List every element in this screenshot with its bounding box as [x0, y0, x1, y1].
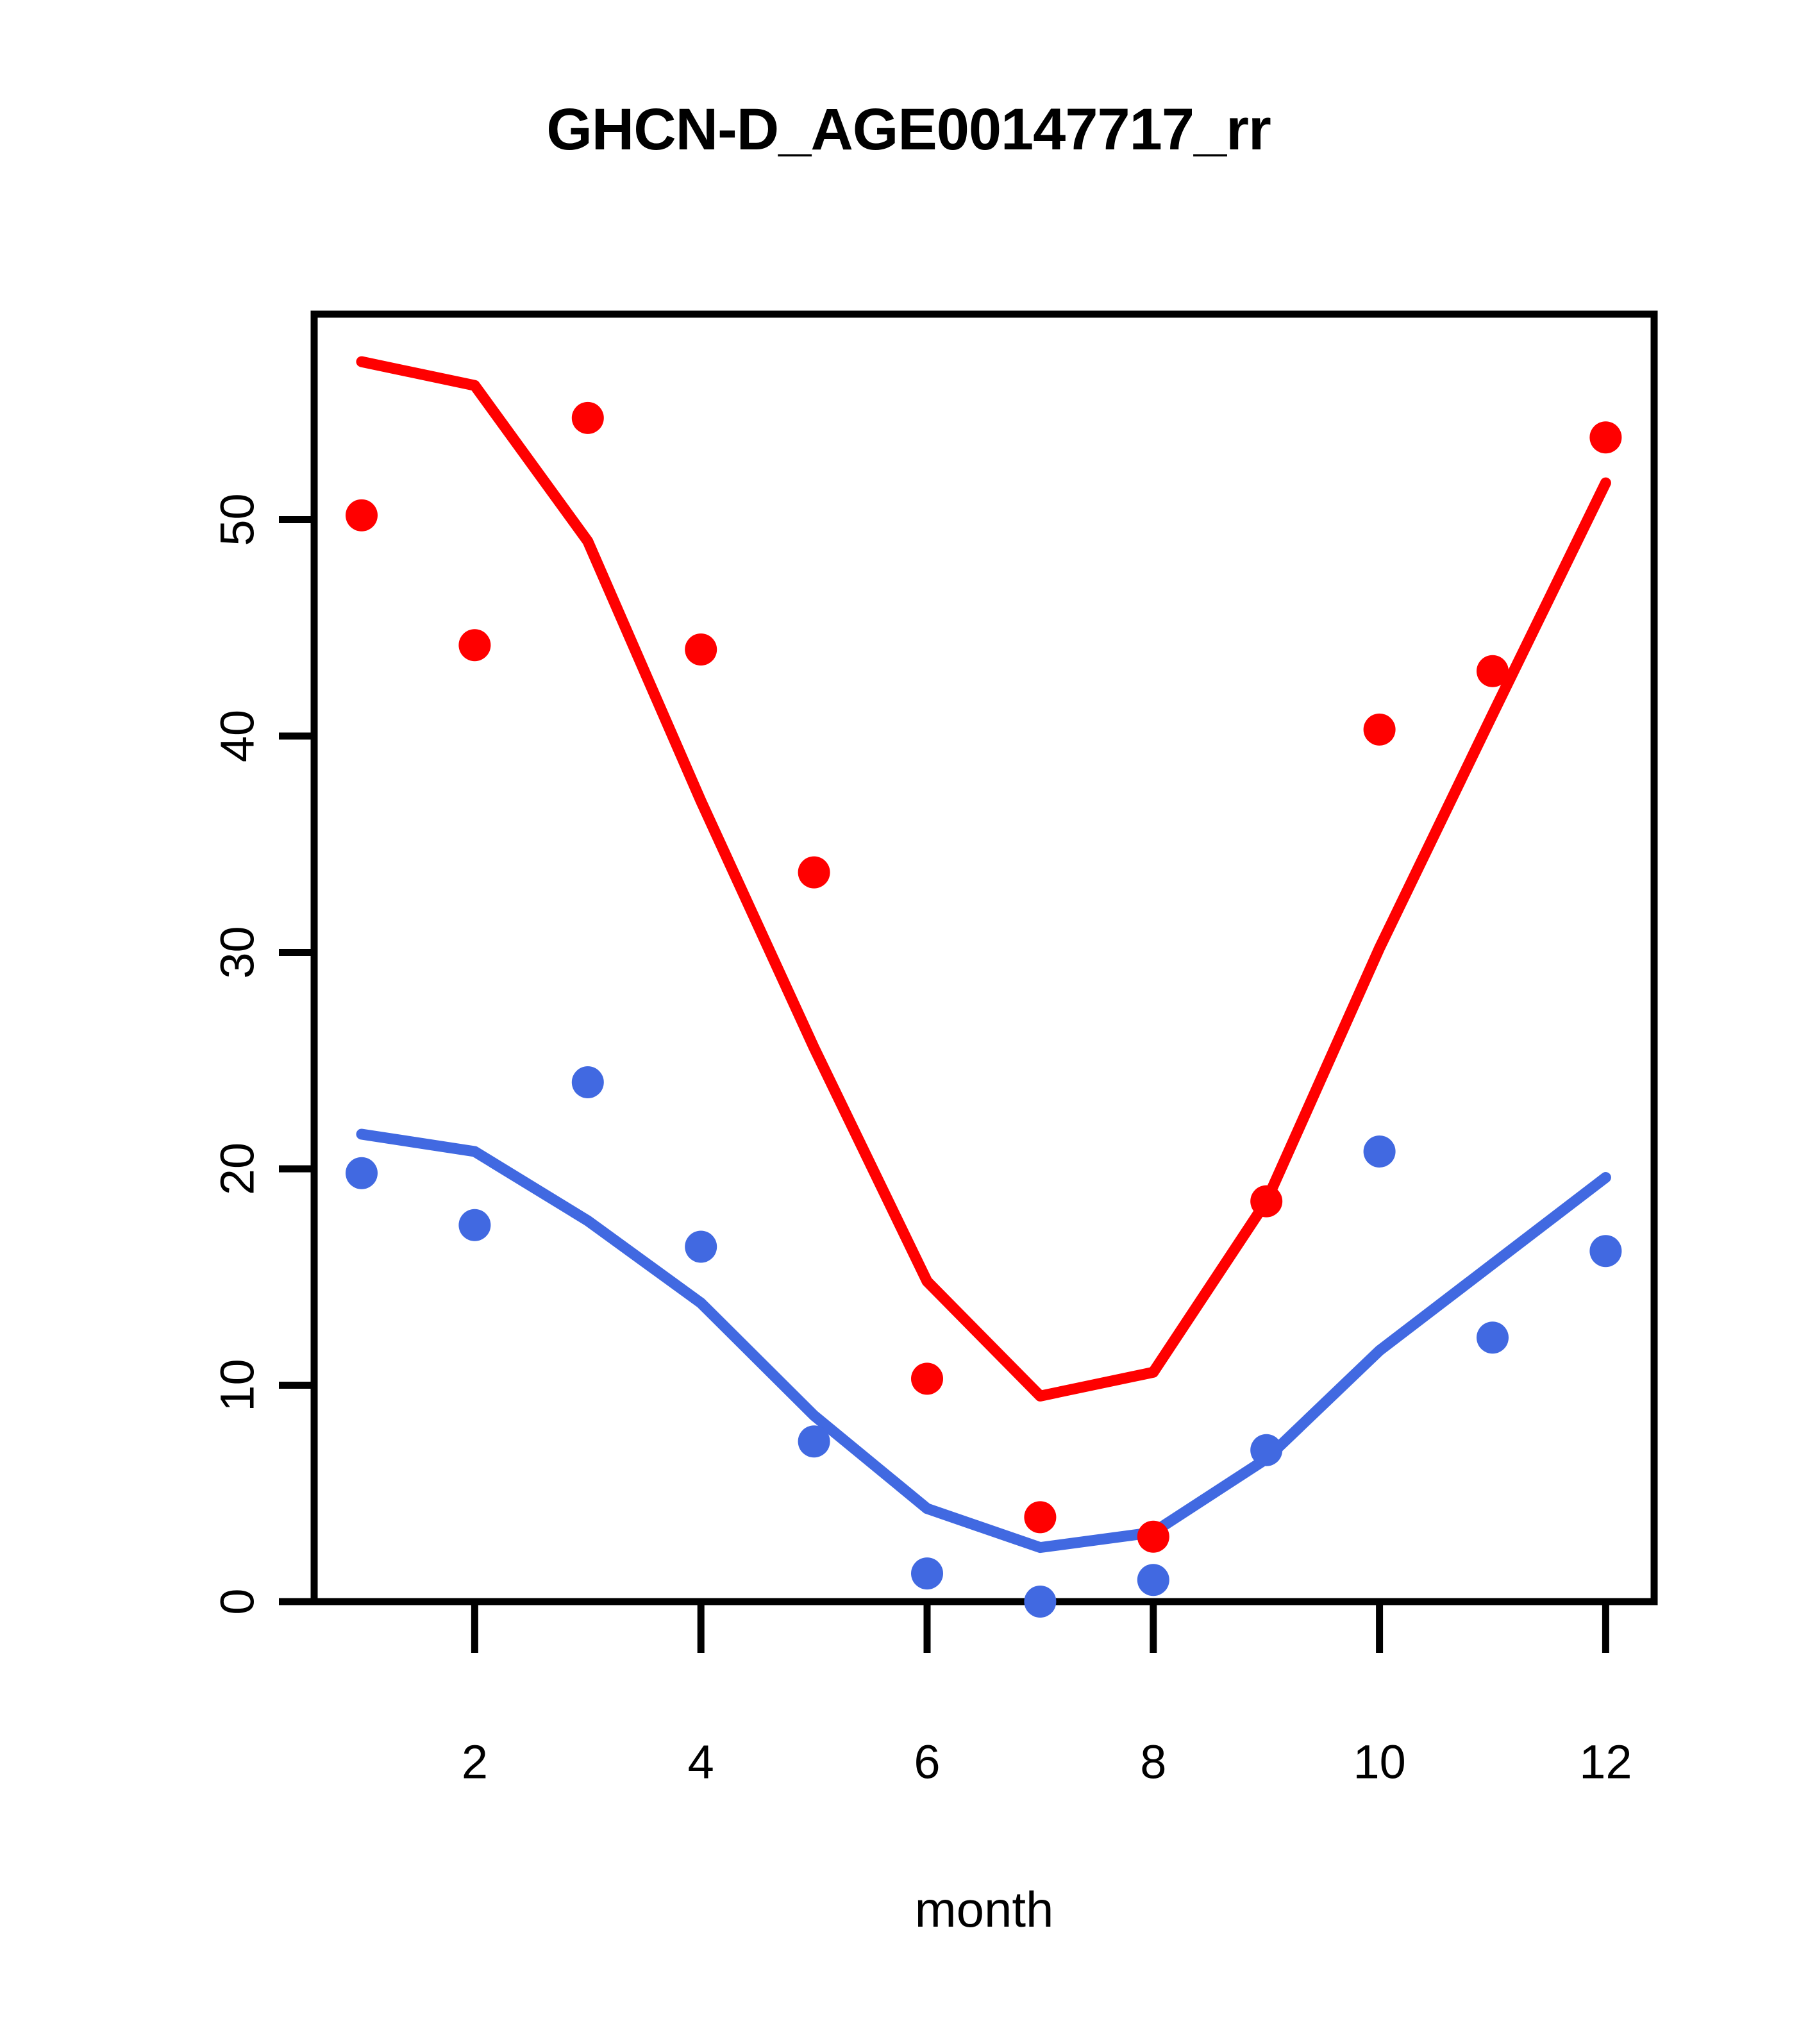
data-point — [1250, 1185, 1282, 1218]
data-point — [1137, 1564, 1169, 1596]
y-axis-tick-label: 30 — [211, 926, 264, 978]
x-axis-tick-label: 4 — [688, 1736, 714, 1789]
data-point — [911, 1362, 943, 1395]
series-points — [346, 402, 1621, 1618]
data-point — [1589, 1235, 1621, 1267]
data-point — [798, 857, 830, 889]
y-axis-tick-label: 0 — [211, 1588, 264, 1614]
series-lines — [362, 362, 1605, 1548]
x-axis-tick-label: 8 — [1140, 1736, 1166, 1789]
data-point — [685, 633, 717, 666]
plot-frame — [314, 314, 1654, 1602]
data-point — [1364, 1135, 1396, 1168]
data-point — [346, 1157, 378, 1189]
plot-area: 01020304050 24681012 month — [0, 0, 1817, 2044]
y-axis-tick-labels: 01020304050 — [211, 493, 264, 1614]
x-axis-tick-label: 6 — [914, 1736, 940, 1789]
y-axis-tick-label: 50 — [211, 493, 264, 546]
series-line — [362, 362, 1605, 1396]
y-axis-tick-label: 20 — [211, 1143, 264, 1195]
y-axis-tick-label: 10 — [211, 1359, 264, 1411]
x-axis-tick-label: 12 — [1579, 1736, 1632, 1789]
data-point — [458, 629, 490, 661]
data-point — [572, 1066, 604, 1098]
data-point — [1589, 421, 1621, 453]
x-axis-tick-label: 2 — [462, 1736, 488, 1789]
data-point — [1024, 1501, 1056, 1533]
data-point — [911, 1557, 943, 1589]
x-axis-tick-labels: 24681012 — [462, 1736, 1632, 1789]
data-point — [1364, 714, 1396, 746]
data-point — [1477, 655, 1509, 687]
data-point — [1477, 1321, 1509, 1353]
x-axis-label: month — [915, 1881, 1054, 1938]
data-point — [458, 1209, 490, 1241]
y-axis-ticks — [279, 520, 314, 1602]
data-point — [572, 402, 604, 434]
data-point — [1250, 1434, 1282, 1466]
data-point — [1024, 1586, 1056, 1618]
y-axis-tick-label: 40 — [211, 710, 264, 762]
x-axis-tick-label: 10 — [1353, 1736, 1405, 1789]
data-point — [346, 499, 378, 532]
chart-page: GHCN-D_AGE00147717_rr 01020304050 246810… — [0, 0, 1817, 2044]
data-point — [685, 1231, 717, 1263]
data-point — [798, 1425, 830, 1457]
data-point — [1137, 1521, 1169, 1553]
